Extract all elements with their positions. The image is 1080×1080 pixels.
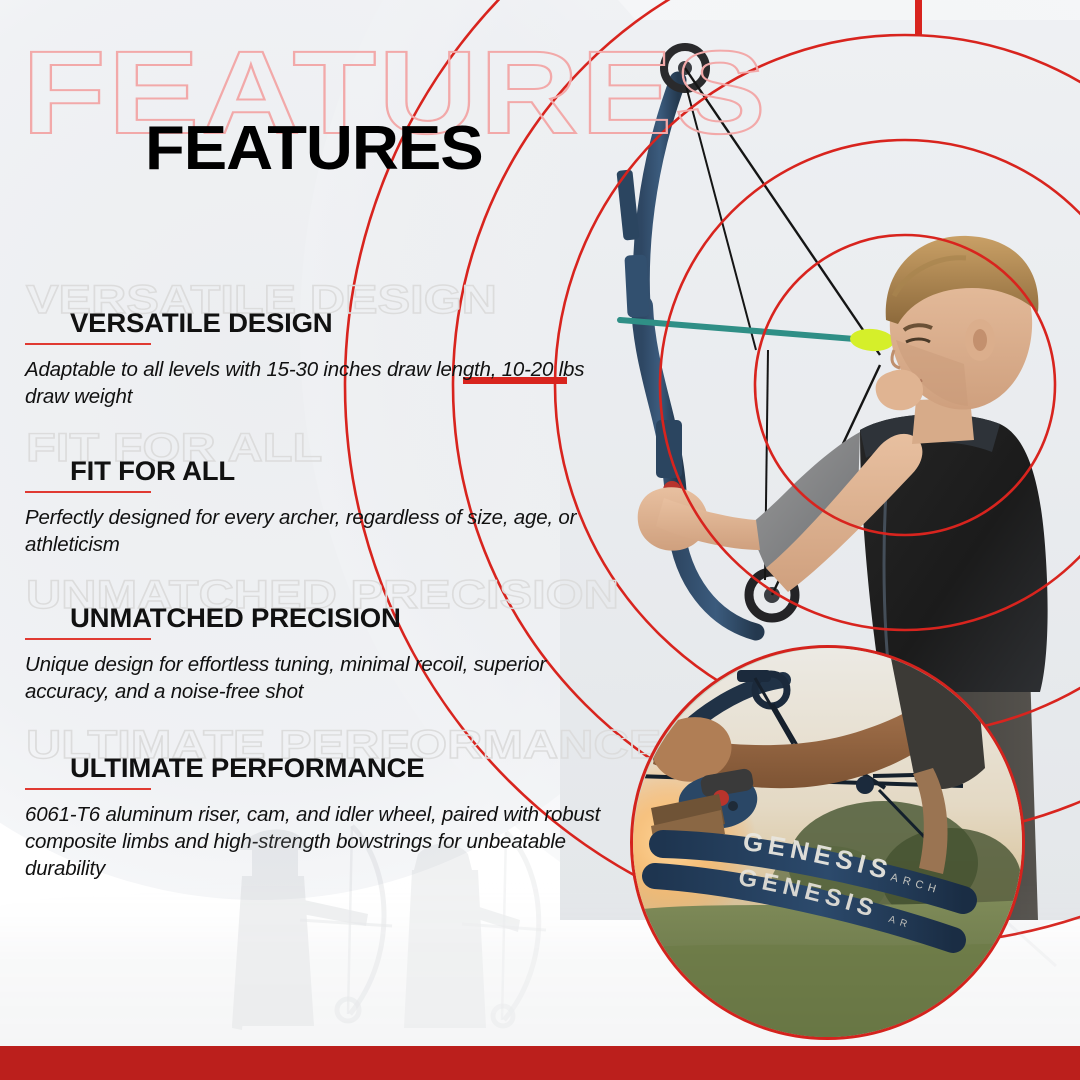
feature-title: VERSATILE DESIGN [70, 310, 332, 337]
page-title: FEATURES [145, 118, 483, 180]
feature-body-text: Unique design for effortless tuning, min… [25, 651, 615, 705]
bottom-accent-bar [0, 1046, 1080, 1080]
feature-underline-rule [25, 343, 151, 345]
feature-body-text: Adaptable to all levels with 15-30 inche… [25, 356, 615, 410]
feature-underline-rule [25, 788, 151, 790]
feature-body-text: 6061-T6 aluminum riser, cam, and idler w… [25, 801, 615, 882]
feature-underline-rule [25, 491, 151, 493]
infographic-canvas: FEATURES FEATURES VERSATILE DESIGN VERSA… [0, 0, 1080, 1080]
feature-title: ULTIMATE PERFORMANCE [70, 755, 424, 782]
feature-body-text: Perfectly designed for every archer, reg… [25, 504, 615, 558]
crosshair-tick-top [915, 0, 922, 36]
feature-underline-rule [25, 638, 151, 640]
product-detail-inset: GENESIS ARCH GENESIS AR [630, 645, 1025, 1040]
feature-title: FIT FOR ALL [70, 458, 235, 485]
feature-title: UNMATCHED PRECISION [70, 605, 401, 632]
